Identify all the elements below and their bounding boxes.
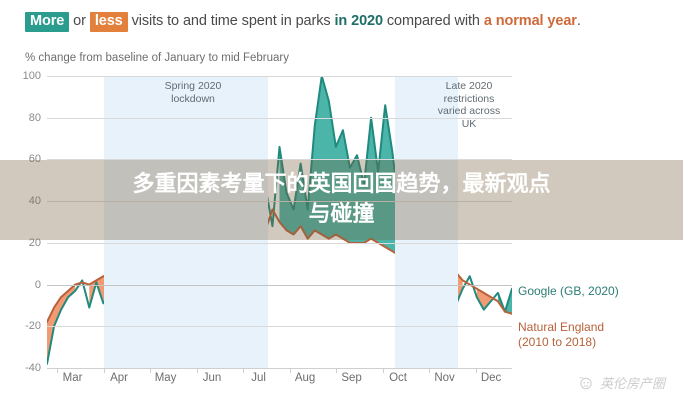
gridline-100 (47, 76, 512, 77)
xtick-may: May (155, 372, 177, 384)
watermark: 英伦房产圈 (577, 373, 665, 392)
overlay-title-line2: 与碰撞 (308, 200, 374, 230)
header-sentence: More or less visits to and time spent in… (25, 12, 581, 32)
ytick-80: 80 (29, 112, 41, 124)
xtick-jul: Jul (251, 372, 266, 384)
ytick-100: 100 (23, 70, 41, 82)
badge-more: More (25, 12, 69, 32)
annotation-late-line1: Late 2020 (414, 80, 524, 93)
xtick-sep: Sep (341, 372, 361, 384)
xnotch-dec (476, 368, 477, 373)
watermark-logo-icon (577, 374, 595, 392)
xtick-mar: Mar (63, 372, 83, 384)
annotation-late-line3: varied across (414, 105, 524, 118)
annotation-late-line2: restrictions (414, 93, 524, 106)
annotation-spring-line1: Spring 2020 (133, 80, 253, 93)
ytick-0: 0 (35, 279, 41, 291)
xnotch-mar (57, 368, 58, 373)
legend-natural-england: Natural England (2010 to 2018) (518, 320, 604, 350)
annotation-spring-lockdown: Spring 2020 lockdown (133, 80, 253, 105)
xnotch-jul (243, 368, 244, 373)
legend-google: Google (GB, 2020) (518, 284, 619, 299)
header-period: . (577, 13, 581, 29)
xnotch-apr (104, 368, 105, 373)
ytick-neg40: -40 (25, 362, 41, 374)
gridline-20 (47, 243, 512, 244)
annotation-late-restrictions: Late 2020 restrictions varied across UK (414, 80, 524, 130)
xnotch-jun (197, 368, 198, 373)
xnotch-sep (336, 368, 337, 373)
infographic-page: More or less visits to and time spent in… (0, 0, 683, 400)
xtick-nov: Nov (434, 372, 454, 384)
overlay-title: 多重因素考量下的英国回国趋势，最新观点 与碰撞 (0, 160, 683, 240)
badge-less: less (90, 12, 128, 32)
legend-natural-label-1: Natural England (518, 320, 604, 335)
gridline-0 (47, 285, 512, 286)
xtick-aug: Aug (295, 372, 315, 384)
header-mid: visits to and time spent in parks (128, 13, 335, 29)
chart-subtitle: % change from baseline of January to mid… (25, 52, 289, 64)
ytick-neg20: -20 (25, 320, 41, 332)
xtick-apr: Apr (110, 372, 128, 384)
xnotch-may (150, 368, 151, 373)
chart-header: More or less visits to and time spent in… (0, 0, 683, 44)
watermark-text: 英伦房产圈 (600, 373, 665, 392)
header-mid2: compared with (383, 13, 484, 29)
x-axis-line (47, 368, 512, 369)
annotation-late-line4: UK (414, 118, 524, 131)
xtick-jun: Jun (203, 372, 222, 384)
overlay-title-line1: 多重因素考量下的英国回国趋势，最新观点 (132, 170, 550, 200)
xtick-dec: Dec (481, 372, 501, 384)
legend-google-label: Google (GB, 2020) (518, 284, 619, 299)
xnotch-nov (429, 368, 430, 373)
xnotch-aug (290, 368, 291, 373)
annotation-spring-line2: lockdown (133, 93, 253, 106)
header-normal-year: a normal year (484, 13, 577, 29)
header-year: in 2020 (334, 13, 382, 29)
legend-natural-label-2: (2010 to 2018) (518, 335, 604, 350)
xnotch-oct (383, 368, 384, 373)
gridline-neg20 (47, 326, 512, 327)
header-or: or (69, 13, 90, 29)
xtick-oct: Oct (389, 372, 407, 384)
